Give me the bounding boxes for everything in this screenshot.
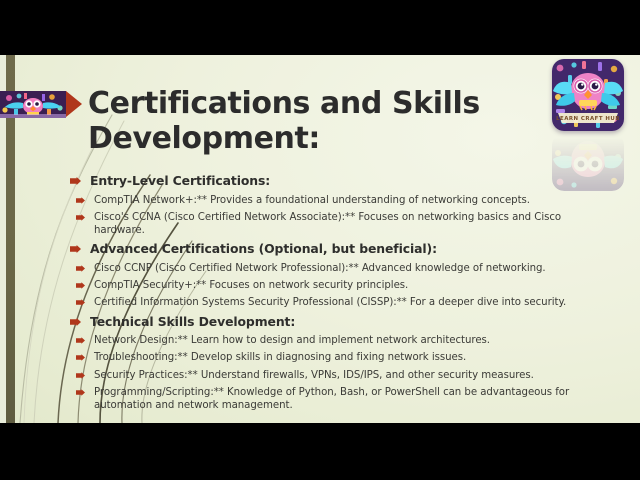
bullet-item-text: Programming/Scripting:** Knowledge of Py…: [94, 386, 574, 413]
bullet-heading-row: Technical Skills Development:: [60, 314, 620, 330]
arrow-bullet-icon: [76, 197, 85, 204]
bullet-item-row: Certified Information Systems Security P…: [60, 296, 620, 309]
arrow-bullet-icon: [76, 389, 85, 396]
letterbox-bottom: [0, 423, 640, 480]
arrow-bullet-icon: [76, 214, 85, 221]
brand-logo: LEARN CRAFT HUB: [546, 59, 632, 191]
bullet-item-text: Network Design:** Learn how to design an…: [94, 334, 490, 347]
owl-logo-artwork: LEARN CRAFT HUB: [552, 59, 624, 131]
bullet-item-row: Programming/Scripting:** Knowledge of Py…: [60, 386, 620, 413]
bullet-heading-text: Advanced Certifications (Optional, but b…: [90, 241, 437, 257]
bullet-heading-text: Entry-Level Certifications:: [90, 173, 270, 189]
arrow-bullet-icon: [76, 337, 85, 344]
banner-arrow-icon: [66, 91, 82, 117]
bullet-item-row: CompTIA Security+:** Focuses on network …: [60, 279, 620, 292]
arrow-bullet-icon: [70, 318, 81, 326]
page-title: Certifications and Skills Development:: [88, 87, 508, 157]
bullet-item-text: Certified Information Systems Security P…: [94, 296, 566, 309]
owl-banner-artwork: [0, 91, 66, 118]
presentation-slide: Certifications and Skills Development:: [0, 55, 640, 423]
bullet-item-row: Security Practices:** Understand firewal…: [60, 369, 620, 382]
svg-text:LEARN CRAFT HUB: LEARN CRAFT HUB: [556, 116, 620, 122]
arrow-bullet-icon: [76, 354, 85, 361]
bullet-item-text: Troubleshooting:** Develop skills in dia…: [94, 351, 466, 364]
arrow-bullet-icon: [70, 177, 81, 185]
bullet-item-row: Cisco's CCNA (Cisco Certified Network As…: [60, 211, 620, 238]
arrow-bullet-icon: [76, 299, 85, 306]
owl-banner-icon: [0, 91, 66, 118]
arrow-bullet-icon: [76, 265, 85, 272]
arrow-bullet-icon: [76, 372, 85, 379]
owl-logo-reflection: [552, 133, 624, 191]
bullet-item-text: CompTIA Security+:** Focuses on network …: [94, 279, 408, 292]
bullet-heading-row: Advanced Certifications (Optional, but b…: [60, 241, 620, 257]
slide-body: Entry-Level Certifications:CompTIA Netwo…: [60, 173, 620, 416]
bullet-item-text: Cisco's CCNA (Cisco Certified Network As…: [94, 211, 574, 238]
bullet-item-row: Network Design:** Learn how to design an…: [60, 334, 620, 347]
bullet-item-row: CompTIA Network+:** Provides a foundatio…: [60, 194, 620, 207]
slide-viewport: Certifications and Skills Development:: [0, 0, 640, 480]
owl-logo-tile: LEARN CRAFT HUB: [552, 59, 624, 131]
owl-logo-reflection-artwork: [552, 133, 624, 191]
bullet-item-row: Cisco CCNP (Cisco Certified Network Prof…: [60, 262, 620, 275]
bullet-heading-text: Technical Skills Development:: [90, 314, 295, 330]
bullet-item-row: Troubleshooting:** Develop skills in dia…: [60, 351, 620, 364]
bullet-heading-row: Entry-Level Certifications:: [60, 173, 620, 189]
arrow-bullet-icon: [76, 282, 85, 289]
bullet-item-text: Cisco CCNP (Cisco Certified Network Prof…: [94, 262, 546, 275]
bullet-item-text: CompTIA Network+:** Provides a foundatio…: [94, 194, 530, 207]
arrow-bullet-icon: [70, 245, 81, 253]
letterbox-top: [0, 0, 640, 55]
title-side-banner: [0, 91, 82, 118]
bullet-item-text: Security Practices:** Understand firewal…: [94, 369, 534, 382]
